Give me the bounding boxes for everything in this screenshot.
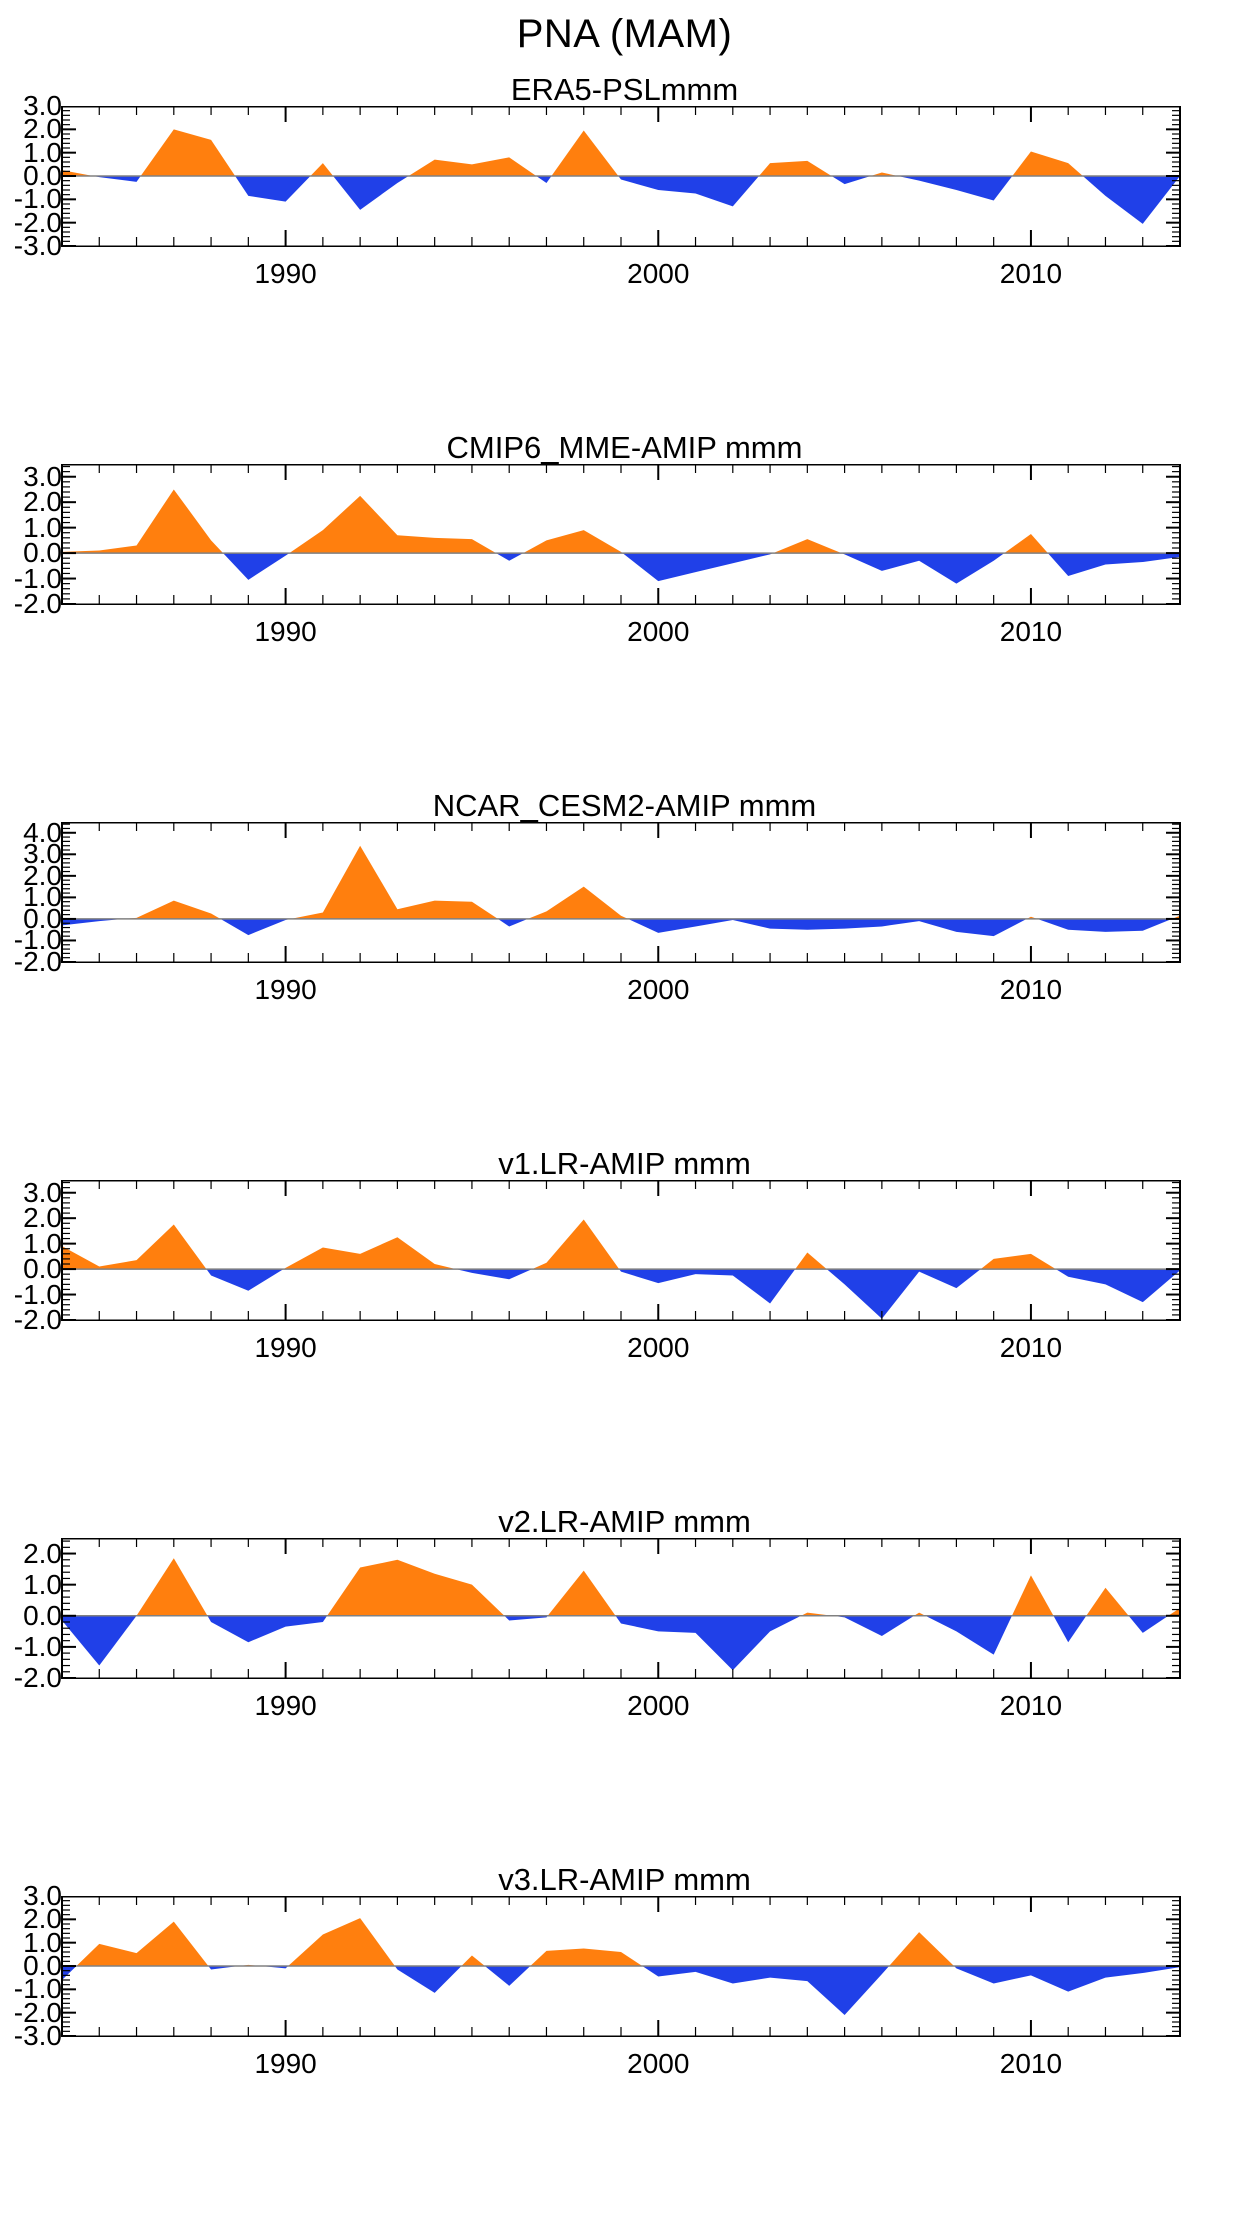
positive-area	[76, 1922, 208, 1966]
plot-frame	[62, 1181, 1180, 1321]
negative-area	[485, 1966, 530, 1986]
negative-area	[207, 1616, 327, 1642]
positive-area	[1004, 534, 1048, 553]
negative-area	[1083, 176, 1180, 224]
positive-area	[461, 1956, 484, 1967]
x-tick-label: 2000	[627, 1332, 689, 1364]
x-tick-label: 2010	[1000, 616, 1062, 648]
plot-area: -3.0-2.0-1.00.01.02.03.0199020002010	[0, 106, 1249, 247]
positive-area	[889, 1932, 954, 1966]
positive-area	[124, 901, 220, 919]
negative-area	[642, 1966, 889, 2015]
x-tick-label: 1990	[254, 616, 316, 648]
negative-area	[536, 176, 551, 183]
positive-area	[759, 161, 832, 176]
positive-area	[62, 1225, 206, 1270]
positive-area	[284, 1237, 456, 1269]
x-tick-label: 2010	[1000, 258, 1062, 290]
positive-area	[289, 496, 496, 553]
positive-area	[528, 887, 628, 919]
y-tick-label: 0.0	[23, 1600, 62, 1632]
y-axis-labels: -2.0-1.00.01.02.03.04.0	[0, 822, 62, 962]
negative-area	[832, 176, 871, 184]
positive-area	[981, 1254, 1056, 1269]
negative-area	[1056, 1269, 1180, 1302]
y-tick-label: 3.0	[23, 1177, 62, 1209]
negative-area	[954, 1966, 1180, 1992]
negative-area	[1129, 1616, 1169, 1633]
negative-area	[456, 1269, 532, 1279]
panel-title: ERA5-PSLmmm	[0, 72, 1249, 108]
figure-suptitle: PNA (MAM)	[0, 12, 1249, 57]
chart-svg	[0, 464, 1249, 605]
plot-area: -2.0-1.00.01.02.03.0199020002010	[0, 464, 1249, 605]
x-axis-labels: 199020002010	[0, 258, 1249, 298]
x-tick-label: 2010	[1000, 1690, 1062, 1722]
x-axis-labels: 199020002010	[0, 1332, 1249, 1372]
chart-svg	[0, 1896, 1249, 2037]
positive-area	[532, 1219, 619, 1269]
plot-area: -2.0-1.00.01.02.03.0199020002010	[0, 1180, 1249, 1321]
x-tick-label: 1990	[254, 2048, 316, 2080]
y-axis-labels: -3.0-2.0-1.00.01.02.03.0	[0, 106, 62, 246]
negative-area	[925, 1616, 1012, 1655]
positive-area	[62, 489, 223, 553]
positive-area	[795, 1253, 826, 1270]
chart-svg	[0, 1538, 1249, 1679]
negative-area	[62, 1966, 76, 1980]
x-tick-label: 2010	[1000, 2048, 1062, 2080]
plot-frame	[62, 823, 1180, 963]
x-tick-label: 2000	[627, 1690, 689, 1722]
positive-area	[137, 1558, 208, 1616]
x-axis-labels: 199020002010	[0, 2048, 1249, 2088]
negative-area	[498, 919, 528, 927]
x-tick-label: 1990	[254, 258, 316, 290]
x-tick-label: 2000	[627, 258, 689, 290]
negative-area	[619, 1269, 795, 1303]
plot-frame	[62, 1539, 1180, 1679]
y-axis-labels: -2.0-1.00.01.02.0	[0, 1538, 62, 1678]
positive-area	[1086, 1588, 1128, 1616]
y-tick-label: 3.0	[23, 461, 62, 493]
positive-area	[409, 157, 537, 176]
panel-title: v1.LR-AMIP mmm	[0, 1146, 1249, 1182]
positive-area	[551, 131, 618, 177]
plot-area: -3.0-2.0-1.00.01.02.03.0199020002010	[0, 1896, 1249, 2037]
negative-area	[220, 919, 291, 935]
x-tick-label: 1990	[254, 1690, 316, 1722]
plot-frame	[62, 465, 1180, 605]
positive-area	[773, 539, 841, 553]
positive-area	[1012, 152, 1083, 177]
y-axis-labels: -2.0-1.00.01.02.03.0	[0, 1180, 62, 1320]
chart-svg	[0, 1180, 1249, 1321]
positive-area	[530, 1949, 642, 1967]
negative-area	[623, 553, 774, 581]
panel-title: CMIP6_MME-AMIP mmm	[0, 430, 1249, 466]
figure-root: PNA (MAM) ERA5-PSLmmm-3.0-2.0-1.00.01.02…	[0, 0, 1249, 2229]
x-axis-labels: 199020002010	[0, 616, 1249, 656]
negative-area	[618, 176, 759, 206]
x-tick-label: 1990	[254, 1332, 316, 1364]
x-tick-label: 2000	[627, 974, 689, 1006]
x-tick-label: 1990	[254, 974, 316, 1006]
positive-area	[523, 530, 622, 553]
x-tick-label: 2000	[627, 616, 689, 648]
panel-title: v2.LR-AMIP mmm	[0, 1504, 1249, 1540]
panel-title: NCAR_CESM2-AMIP mmm	[0, 788, 1249, 824]
negative-area	[832, 1616, 914, 1636]
negative-area	[496, 553, 523, 561]
negative-area	[235, 176, 310, 202]
y-axis-labels: -3.0-2.0-1.00.01.02.03.0	[0, 1896, 62, 2036]
negative-area	[1037, 919, 1172, 932]
y-tick-label: -1.0	[14, 1631, 62, 1663]
positive-area	[141, 129, 235, 176]
y-tick-label: 3.0	[23, 90, 62, 122]
x-tick-label: 2010	[1000, 974, 1062, 1006]
negative-area	[206, 1269, 283, 1291]
y-tick-label: 4.0	[23, 817, 62, 849]
negative-area	[628, 919, 1027, 936]
x-axis-labels: 199020002010	[0, 974, 1249, 1014]
negative-area	[93, 176, 141, 182]
y-tick-label: 1.0	[23, 1569, 62, 1601]
negative-area	[62, 1616, 137, 1666]
x-tick-label: 2000	[627, 2048, 689, 2080]
y-axis-labels: -2.0-1.00.01.02.03.0	[0, 464, 62, 604]
y-tick-label: 2.0	[23, 1538, 62, 1570]
negative-area	[1053, 1616, 1086, 1642]
y-tick-label: 3.0	[23, 1880, 62, 1912]
chart-svg	[0, 106, 1249, 247]
positive-area	[310, 163, 333, 176]
plot-area: -2.0-1.00.01.02.03.04.0199020002010	[0, 822, 1249, 963]
positive-area	[327, 1560, 504, 1616]
plot-area: -2.0-1.00.01.02.0199020002010	[0, 1538, 1249, 1679]
chart-svg	[0, 822, 1249, 963]
negative-area	[898, 176, 1012, 201]
negative-area	[827, 1269, 981, 1319]
panel-title: v3.LR-AMIP mmm	[0, 1862, 1249, 1898]
positive-area	[1012, 1575, 1054, 1615]
negative-area	[616, 1616, 802, 1670]
negative-area	[223, 553, 289, 580]
positive-area	[288, 1918, 395, 1966]
negative-area	[1048, 553, 1180, 576]
negative-area	[333, 176, 408, 210]
negative-area	[841, 553, 1004, 584]
positive-area	[548, 1571, 616, 1616]
negative-area	[395, 1966, 462, 1993]
x-axis-labels: 199020002010	[0, 1690, 1249, 1730]
x-tick-label: 2010	[1000, 1332, 1062, 1364]
positive-area	[291, 846, 498, 919]
